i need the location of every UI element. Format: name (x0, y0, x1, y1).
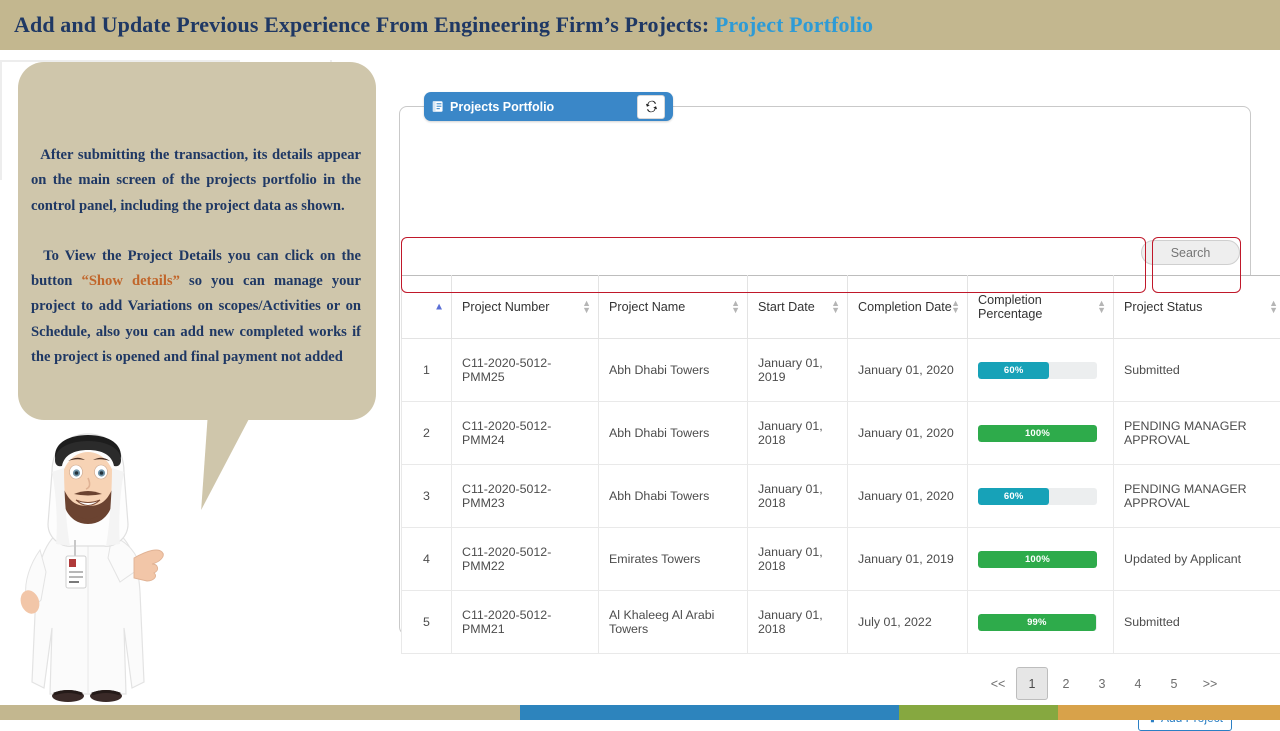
table-row[interactable]: 5C11-2020-5012-PMM21Al Khaleeg Al Arabi … (402, 591, 1280, 654)
pagination-page-4[interactable]: 4 (1120, 671, 1156, 697)
progress-bar-fill: 60% (978, 488, 1049, 505)
pagination-page-1[interactable]: 1 (1016, 667, 1048, 700)
cell-project-status: PENDING MANAGER APPROVAL (1114, 465, 1280, 528)
column-header-project-number[interactable]: Project Number ▲▼ (452, 276, 599, 339)
cell-start-date: January 01, 2018 (748, 402, 848, 465)
cell-completion-date: January 01, 2020 (848, 339, 968, 402)
column-label: Project Number (462, 300, 550, 314)
sort-both-icon: ▲▼ (831, 300, 840, 314)
sort-both-icon: ▲▼ (731, 300, 740, 314)
row-index: 5 (402, 591, 452, 654)
table-row[interactable]: 2C11-2020-5012-PMM24Abh Dhabi TowersJanu… (402, 402, 1280, 465)
pagination-page-3[interactable]: 3 (1084, 671, 1120, 697)
decorative-line (0, 60, 4, 180)
column-label: Project Name (609, 300, 685, 314)
cell-start-date: January 01, 2018 (748, 528, 848, 591)
table-header: ▲ Project Number ▲▼ Project Name ▲▼ Star… (402, 276, 1280, 339)
pagination-page-5[interactable]: 5 (1156, 671, 1192, 697)
refresh-button[interactable] (637, 95, 665, 119)
sort-both-icon: ▲▼ (1097, 300, 1106, 314)
cell-completion-percentage: 60% (968, 465, 1114, 528)
progress-bar-fill: 99% (978, 614, 1096, 631)
row-index: 4 (402, 528, 452, 591)
sort-ascending-icon: ▲ (434, 304, 444, 311)
sort-both-icon: ▲▼ (1269, 300, 1278, 314)
table-header-row: ▲ Project Number ▲▼ Project Name ▲▼ Star… (402, 276, 1280, 339)
progress-bar-label: 60% (1004, 365, 1024, 376)
column-label: Project Status (1124, 300, 1202, 314)
cell-completion-percentage: 100% (968, 402, 1114, 465)
row-index: 1 (402, 339, 452, 402)
progress-bar-label: 100% (1025, 428, 1050, 439)
cell-project-status: Submitted (1114, 339, 1280, 402)
cell-project-number: C11-2020-5012-PMM25 (452, 339, 599, 402)
cell-completion-date: January 01, 2020 (848, 465, 968, 528)
progress-bar-label: 60% (1004, 491, 1024, 502)
column-label: Completion Percentage (978, 293, 1042, 321)
table-row[interactable]: 4C11-2020-5012-PMM22Emirates TowersJanua… (402, 528, 1280, 591)
column-header-completion-date[interactable]: Completion Date ▲▼ (848, 276, 968, 339)
cell-start-date: January 01, 2019 (748, 339, 848, 402)
progress-bar: 100% (978, 425, 1097, 442)
row-index: 3 (402, 465, 452, 528)
page-header: Add and Update Previous Experience From … (0, 0, 1280, 50)
callout-paragraph-1: After submitting the transaction, its de… (31, 147, 365, 213)
column-header-start-date[interactable]: Start Date ▲▼ (748, 276, 848, 339)
cell-project-number: C11-2020-5012-PMM21 (452, 591, 599, 654)
progress-bar-fill: 100% (978, 425, 1097, 442)
cell-start-date: January 01, 2018 (748, 591, 848, 654)
book-icon (432, 100, 445, 113)
projects-portfolio-card: ▲ Project Number ▲▼ Project Name ▲▼ Star… (399, 106, 1251, 635)
mascot-illustration (8, 432, 168, 704)
strip-segment-blue (520, 705, 899, 720)
callout-text: After submitting the transaction, its de… (31, 118, 361, 370)
pagination-first[interactable]: << (980, 671, 1016, 697)
sort-both-icon: ▲▼ (951, 300, 960, 314)
pagination-page-2[interactable]: 2 (1048, 671, 1084, 697)
progress-bar-fill: 60% (978, 362, 1049, 379)
progress-bar: 60% (978, 488, 1097, 505)
cell-project-status: Updated by Applicant (1114, 528, 1280, 591)
cell-project-name: Abh Dhabi Towers (599, 402, 748, 465)
cell-project-status: PENDING MANAGER APPROVAL (1114, 402, 1280, 465)
table-row[interactable]: 3C11-2020-5012-PMM23Abh Dhabi TowersJanu… (402, 465, 1280, 528)
table-row[interactable]: 1C11-2020-5012-PMM25Abh Dhabi TowersJanu… (402, 339, 1280, 402)
cell-project-number: C11-2020-5012-PMM24 (452, 402, 599, 465)
strip-segment-tan (0, 705, 520, 720)
progress-bar-fill: 100% (978, 551, 1097, 568)
cell-project-name: Abh Dhabi Towers (599, 339, 748, 402)
progress-bar-label: 99% (1027, 617, 1047, 628)
column-label: Completion Date (858, 300, 952, 314)
progress-bar: 99% (978, 614, 1097, 631)
page-title: Add and Update Previous Experience From … (0, 12, 873, 38)
column-header-index[interactable]: ▲ (402, 276, 452, 339)
sort-both-icon: ▲▼ (582, 300, 591, 314)
cell-completion-percentage: 60% (968, 339, 1114, 402)
progress-bar: 60% (978, 362, 1097, 379)
cell-project-name: Emirates Towers (599, 528, 748, 591)
column-header-project-name[interactable]: Project Name ▲▼ (599, 276, 748, 339)
pagination-last[interactable]: >> (1192, 671, 1228, 697)
progress-bar-label: 100% (1025, 554, 1050, 565)
cell-completion-date: January 01, 2019 (848, 528, 968, 591)
cell-project-status: Submitted (1114, 591, 1280, 654)
panel-tab[interactable]: Projects Portfolio (424, 92, 673, 121)
cell-completion-percentage: 99% (968, 591, 1114, 654)
panel-tab-title: Projects Portfolio (450, 100, 554, 114)
column-header-project-status[interactable]: Project Status ▲▼ (1114, 276, 1280, 339)
row-index: 2 (402, 402, 452, 465)
page-title-accent: Project Portfolio (715, 12, 873, 37)
cell-project-number: C11-2020-5012-PMM22 (452, 528, 599, 591)
cell-project-number: C11-2020-5012-PMM23 (452, 465, 599, 528)
pagination: << 1 2 3 4 5 >> (980, 667, 1228, 700)
page-title-main: Add and Update Previous Experience From … (14, 12, 715, 37)
search-input[interactable] (1141, 240, 1240, 265)
cell-project-name: Al Khaleeg Al Arabi Towers (599, 591, 748, 654)
strip-segment-green (899, 705, 1058, 720)
bottom-color-strip (0, 705, 1280, 720)
cell-completion-percentage: 100% (968, 528, 1114, 591)
strip-segment-orange (1058, 705, 1280, 720)
cell-start-date: January 01, 2018 (748, 465, 848, 528)
refresh-icon (645, 100, 658, 113)
cell-completion-date: July 01, 2022 (848, 591, 968, 654)
projects-table: ▲ Project Number ▲▼ Project Name ▲▼ Star… (401, 275, 1280, 654)
column-header-completion-percentage[interactable]: Completion Percentage ▲▼ (968, 276, 1114, 339)
cell-completion-date: January 01, 2020 (848, 402, 968, 465)
callout-highlight: “Show details” (82, 273, 180, 289)
table-body: 1C11-2020-5012-PMM25Abh Dhabi TowersJanu… (402, 339, 1280, 654)
progress-bar: 100% (978, 551, 1097, 568)
cell-project-name: Abh Dhabi Towers (599, 465, 748, 528)
column-label: Start Date (758, 300, 815, 314)
